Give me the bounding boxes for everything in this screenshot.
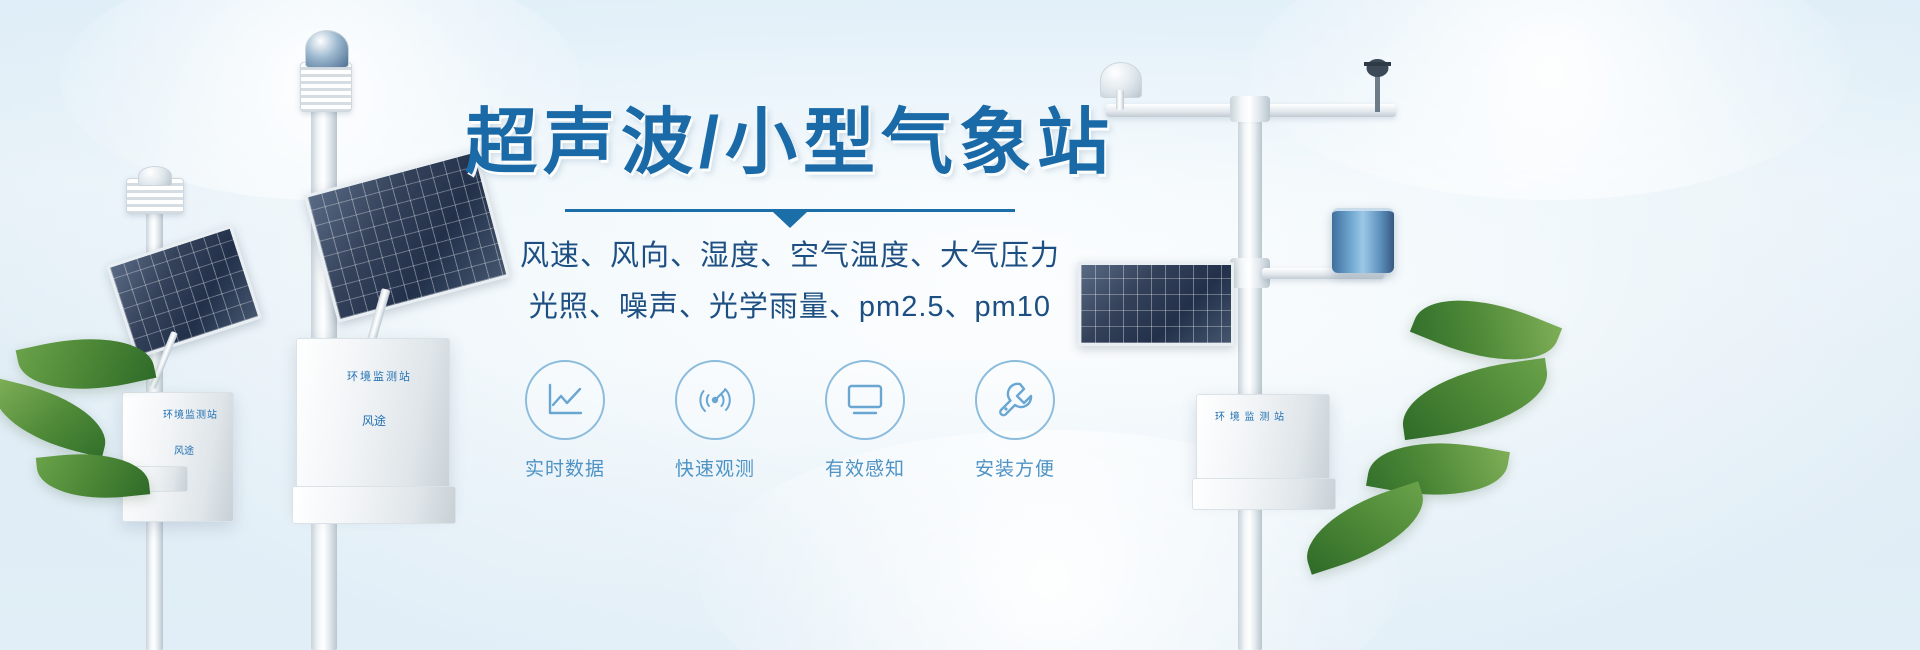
wrench-svg [994,379,1036,421]
right-cabinet-label: 环 境 监 测 站 [1215,408,1285,423]
right-collar-upper [1230,96,1270,122]
rain-gauge-bucket [1332,208,1394,273]
cloud-decoration [1250,0,1850,200]
feature-label: 快速观测 [661,454,769,481]
radar-signal-icon [675,360,755,440]
line-chart-icon [525,360,605,440]
right-cabinet-base [1192,478,1336,510]
feature-label: 实时数据 [511,454,619,481]
feature-item-fast-observation[interactable]: 快速观测 [661,360,769,481]
left-sensor-dome [138,166,172,186]
subtitle-line-1: 风速、风向、湿度、空气温度、大气压力 [450,234,1130,279]
monitor-screen-svg [844,382,886,418]
feature-label: 有效感知 [811,454,919,481]
banner-content: 超声波/小型气象站 风速、风向、湿度、空气温度、大气压力 光照、噪声、光学雨量、… [450,105,1130,481]
feature-item-easy-install[interactable]: 安装方便 [961,360,1069,481]
monitor-screen-icon [825,360,905,440]
feature-label: 安装方便 [961,454,1069,481]
middle-cabinet-brand: 风途 [362,412,386,429]
wind-vane-icon [1360,56,1396,112]
feature-list: 实时数据 快速观测 [450,360,1130,481]
leaf-decoration [1396,358,1553,440]
wrench-icon [975,360,1055,440]
feature-item-effective-sensing[interactable]: 有效感知 [811,360,919,481]
page-title: 超声波/小型气象站 [450,105,1130,183]
feature-item-realtime-data[interactable]: 实时数据 [511,360,619,481]
radar-signal-svg [694,379,736,421]
left-solar-panel [106,225,262,359]
middle-cabinet-base [292,486,456,524]
right-mast [1238,96,1262,650]
line-chart-svg [545,382,585,418]
left-cabinet-label: 环境监测站 [163,406,218,421]
title-divider [565,209,1015,212]
middle-sensor-stack [300,62,352,112]
divider-triangle-icon [773,212,807,228]
product-banner: 环境监测站 风途 环境监测站 风途 环 境 监 [0,0,1920,650]
leaf-decoration [0,378,115,457]
wind-vane-svg [1360,56,1396,112]
middle-sensor-dome [305,30,349,68]
left-cabinet-brand: 风途 [174,442,194,457]
middle-cabinet-label: 环境监测站 [347,368,412,384]
subtitle-line-2: 光照、噪声、光学雨量、pm2.5、pm10 [450,285,1130,330]
